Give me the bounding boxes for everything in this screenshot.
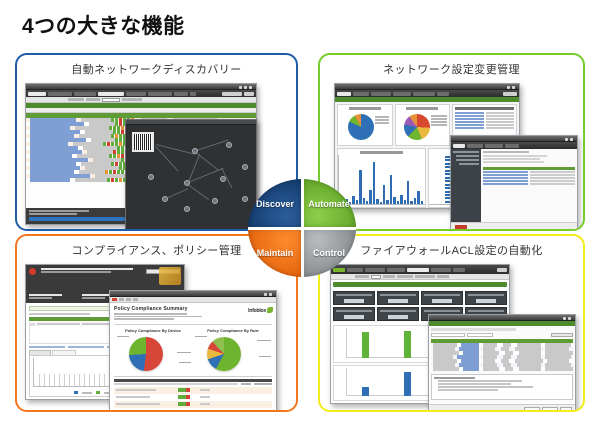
pie-chart xyxy=(129,337,163,371)
window-titlebar xyxy=(335,84,519,90)
policy-compliance-report-window[interactable]: Policy Compliance Summary Infoblox Polic… xyxy=(109,290,277,412)
window-titlebar xyxy=(110,291,276,297)
overall-status-table[interactable] xyxy=(110,377,276,410)
tree-pane[interactable] xyxy=(451,149,481,228)
stat-tile[interactable] xyxy=(377,291,419,305)
topology-node[interactable] xyxy=(184,180,190,186)
stat-tiles xyxy=(331,289,509,307)
window-tabbar[interactable] xyxy=(335,90,519,97)
window-titlebar xyxy=(451,136,577,142)
topology-node[interactable] xyxy=(162,196,168,202)
config-detail-window[interactable] xyxy=(450,135,578,231)
panel-firewall-acl-automation[interactable]: ファイアウォールACL設定の自動化 xyxy=(318,234,585,412)
slide-canvas: 4つの大きな機能 自動ネットワークディスカバリー xyxy=(0,0,600,429)
panel-tr-label: ネットワーク設定変更管理 xyxy=(320,61,583,77)
chart-pie-1[interactable] xyxy=(337,104,393,146)
topology-node[interactable] xyxy=(212,198,218,204)
panel-br-screenshots xyxy=(320,258,583,410)
topology-node[interactable] xyxy=(148,174,154,180)
wheel-quadrant-maintain[interactable]: Maintain xyxy=(248,228,302,277)
panel-tl-label: 自動ネットワークディスカバリー xyxy=(17,61,296,77)
window-titlebar xyxy=(26,84,256,90)
table-row[interactable] xyxy=(114,394,272,401)
wheel-label-maintain: Maintain xyxy=(257,248,294,258)
window-tabbar[interactable] xyxy=(451,142,577,149)
window-titlebar xyxy=(429,315,575,321)
wheel-label-discover: Discover xyxy=(256,199,294,209)
panel-tr-screenshots xyxy=(320,77,583,229)
pie-chart xyxy=(348,114,374,140)
stat-tile[interactable] xyxy=(465,291,507,305)
chart-compliance-by-device[interactable]: Policy Compliance By Device xyxy=(115,328,191,374)
wheel-label-control: Control xyxy=(313,248,345,258)
panel-config-change-mgmt[interactable]: ネットワーク設定変更管理 xyxy=(318,53,585,231)
help-button[interactable] xyxy=(560,407,572,412)
stat-tile[interactable] xyxy=(421,291,463,305)
acl-config-textarea[interactable] xyxy=(431,374,573,400)
acl-rules-window[interactable] xyxy=(428,314,576,412)
chart-compliance-by-rule[interactable]: Policy Compliance By Rule xyxy=(195,328,271,374)
table-row[interactable] xyxy=(114,387,272,394)
detail-pane[interactable] xyxy=(481,149,577,228)
topology-node[interactable] xyxy=(184,206,190,212)
panel-bl-screenshots: Policy Compliance Summary Infoblox Polic… xyxy=(17,258,296,410)
brand-logo xyxy=(159,267,181,285)
violation-header xyxy=(26,265,184,291)
stat-tile[interactable] xyxy=(377,307,419,321)
stat-tile[interactable] xyxy=(333,307,375,321)
table-row[interactable] xyxy=(114,401,272,408)
page-title: 4つの大きな機能 xyxy=(22,10,185,40)
topology-node[interactable] xyxy=(192,148,198,154)
window-subtabs[interactable] xyxy=(331,274,509,280)
leaf-icon xyxy=(267,307,273,313)
topology-node[interactable] xyxy=(242,164,248,170)
window-tabbar[interactable] xyxy=(26,90,256,97)
network-topology-map[interactable] xyxy=(125,119,257,231)
wheel-quadrant-automate[interactable]: Automate xyxy=(302,179,356,228)
acl-rules-table[interactable] xyxy=(431,343,573,371)
infoblox-logo: Infoblox xyxy=(248,307,273,314)
panel-br-label: ファイアウォールACL設定の自動化 xyxy=(320,242,583,258)
alert-icon xyxy=(29,268,36,275)
save-button[interactable] xyxy=(524,407,540,412)
pie-chart xyxy=(207,337,241,371)
stat-tile[interactable] xyxy=(333,291,375,305)
chart-pie-2[interactable] xyxy=(395,104,451,146)
capability-wheel: Discover Automate Maintain Control xyxy=(248,179,356,277)
wheel-divider-horizontal xyxy=(248,227,356,230)
wheel-label-automate: Automate xyxy=(308,199,350,209)
wheel-quadrant-discover[interactable]: Discover xyxy=(248,179,302,228)
pie-chart xyxy=(404,114,430,140)
device-thumbnail xyxy=(132,132,154,152)
cancel-button[interactable] xyxy=(542,407,558,412)
window-tabbar[interactable] xyxy=(331,265,509,274)
table-row[interactable] xyxy=(431,367,573,371)
wheel-quadrant-control[interactable]: Control xyxy=(302,228,356,277)
topology-node[interactable] xyxy=(220,176,226,182)
topology-node[interactable] xyxy=(226,142,232,148)
